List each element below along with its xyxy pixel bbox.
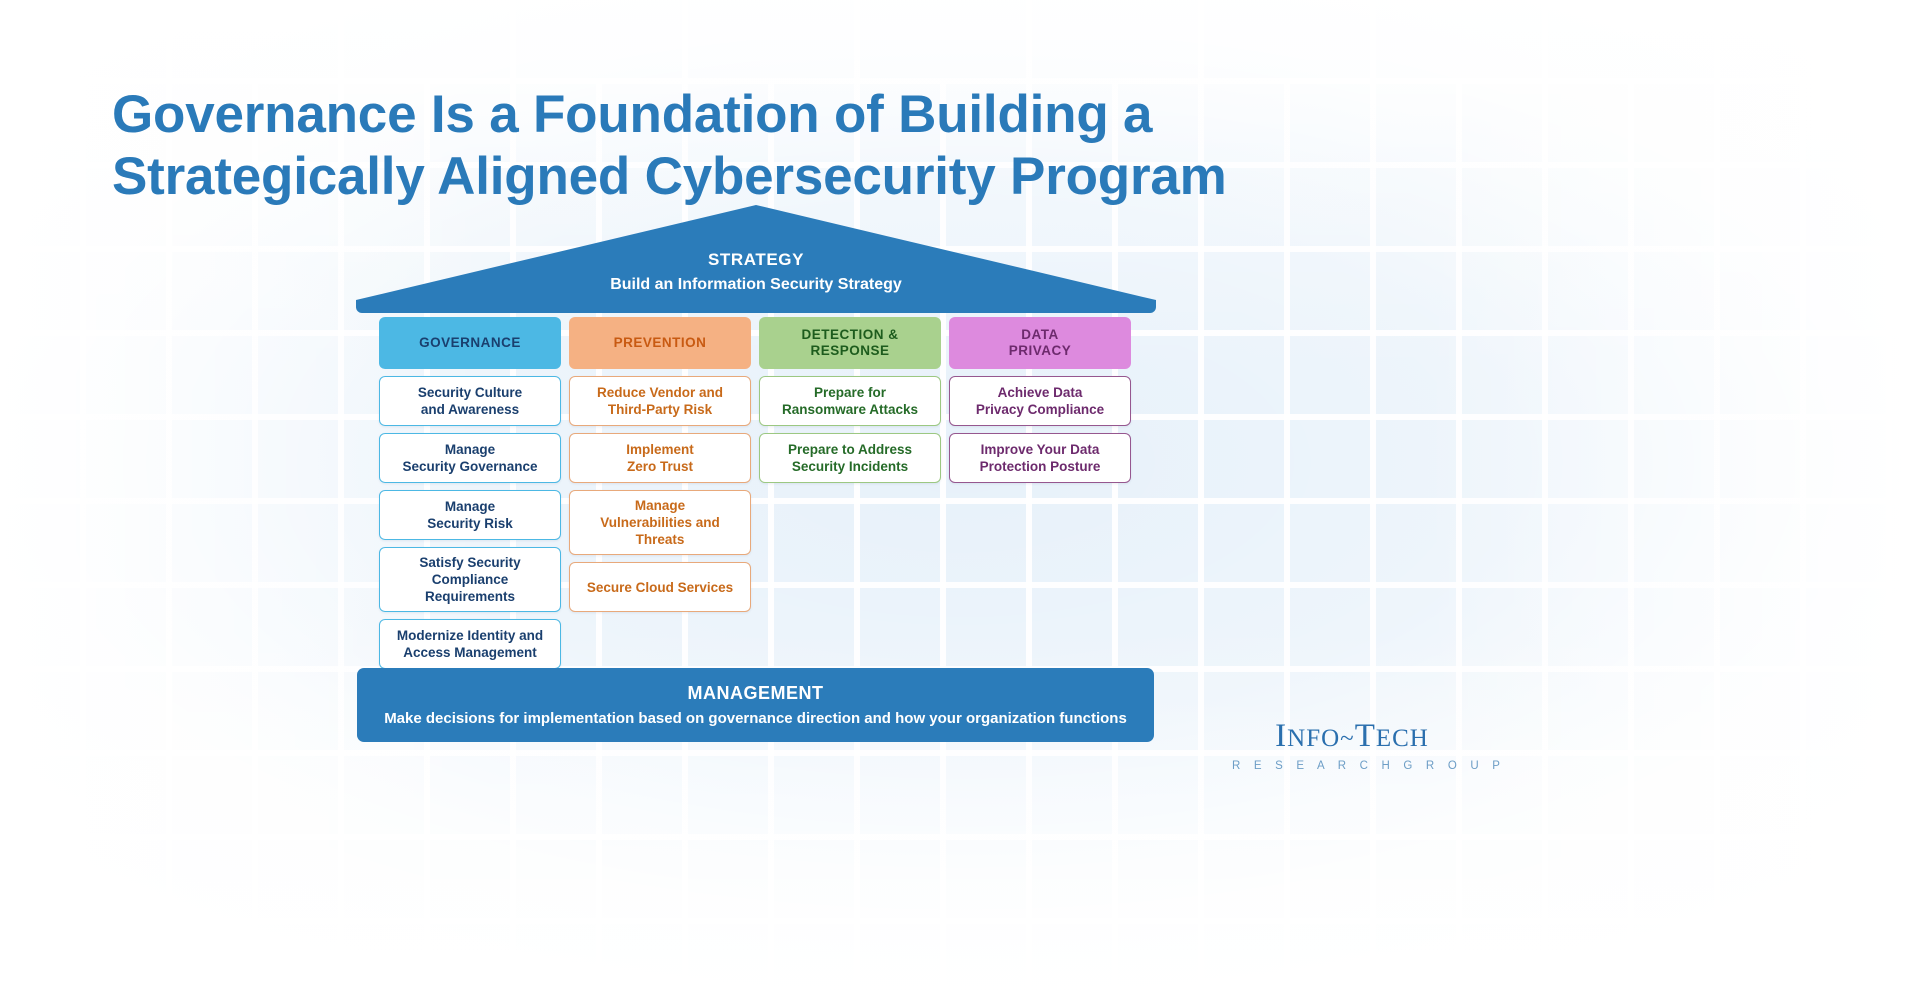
logo-letter-i: I [1275,718,1287,754]
pillar-item[interactable]: Modernize Identity andAccess Management [379,619,561,669]
management-bar: MANAGEMENT Make decisions for implementa… [357,668,1154,742]
logo-letter-t: T [1355,718,1376,754]
pillar-item[interactable]: ImplementZero Trust [569,433,751,483]
pillar-item[interactable]: Prepare forRansomware Attacks [759,376,941,426]
pillar-header[interactable]: PREVENTION [569,317,751,369]
strategy-heading: STRATEGY [356,249,1156,271]
logo-letters-nfo: NFO [1287,725,1340,752]
pillar-column: DATAPRIVACYAchieve DataPrivacy Complianc… [949,317,1131,483]
pillar-item[interactable]: Secure Cloud Services [569,562,751,612]
pillar-item[interactable]: ManageVulnerabilities andThreats [569,490,751,555]
management-heading: MANAGEMENT [688,683,824,704]
pillar-item[interactable]: Prepare to AddressSecurity Incidents [759,433,941,483]
pillar-item[interactable]: Reduce Vendor andThird-Party Risk [569,376,751,426]
logo-tilde: ~ [1340,725,1355,752]
pillar-header[interactable]: DATAPRIVACY [949,317,1131,369]
pillar-item[interactable]: ManageSecurity Risk [379,490,561,540]
page-title-line-2: Strategically Aligned Cybersecurity Prog… [112,146,1432,208]
page-title-line-1: Governance Is a Foundation of Building a [112,84,1432,146]
pillar-column: GOVERNANCESecurity Cultureand AwarenessM… [379,317,561,669]
infographic-stage: Governance Is a Foundation of Building a… [0,0,1920,1005]
pillar-header[interactable]: GOVERNANCE [379,317,561,369]
pillar-item[interactable]: Achieve DataPrivacy Compliance [949,376,1131,426]
roof-text-block: STRATEGY Build an Information Security S… [356,249,1156,296]
logo-tagline: R E S E A R C H G R O U P [1232,760,1472,772]
pillar-item[interactable]: Security Cultureand Awareness [379,376,561,426]
strategy-roof: STRATEGY Build an Information Security S… [356,205,1156,313]
pillar-item[interactable]: Satisfy SecurityComplianceRequirements [379,547,561,612]
logo-letters-ech: ECH [1376,725,1429,752]
pillar-columns: GOVERNANCESecurity Cultureand AwarenessM… [379,317,1133,669]
page-title: Governance Is a Foundation of Building a… [112,84,1432,208]
logo-wordmark: INFO~TECH [1232,718,1472,757]
pillar-item[interactable]: ManageSecurity Governance [379,433,561,483]
pillar-column: PREVENTIONReduce Vendor andThird-Party R… [569,317,751,612]
pillar-column: DETECTION &RESPONSEPrepare forRansomware… [759,317,941,483]
management-subheading: Make decisions for implementation based … [384,710,1127,727]
strategy-subheading: Build an Information Security Strategy [356,274,1156,296]
pillar-header[interactable]: DETECTION &RESPONSE [759,317,941,369]
pillar-item[interactable]: Improve Your DataProtection Posture [949,433,1131,483]
info-tech-logo: INFO~TECH R E S E A R C H G R O U P [1232,718,1472,772]
